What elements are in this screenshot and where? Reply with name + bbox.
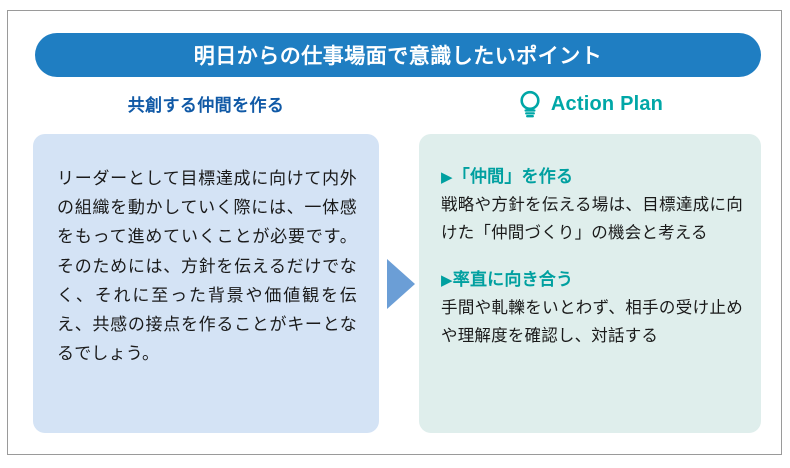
triangle-bullet-icon: ▶ bbox=[441, 169, 453, 186]
right-arrow-icon bbox=[387, 259, 415, 309]
action-item-title: ▶率直に向き合う bbox=[441, 265, 743, 290]
left-panel-body: リーダーとして目標達成に向けて内外の組織を動かしていく際には、一体感をもって進め… bbox=[57, 164, 357, 369]
action-item-title: ▶「仲間」を作る bbox=[441, 162, 743, 187]
action-item-body: 戦略や方針を伝える場は、目標達成に向けた「仲間づくり」の機会と考える bbox=[441, 192, 743, 247]
action-item: ▶「仲間」を作る 戦略や方針を伝える場は、目標達成に向けた「仲間づくり」の機会と… bbox=[441, 162, 743, 247]
left-column-heading: 共創する仲間を作る bbox=[32, 91, 380, 116]
lightbulb-icon bbox=[517, 89, 543, 119]
left-panel: リーダーとして目標達成に向けて内外の組織を動かしていく際には、一体感をもって進め… bbox=[33, 134, 379, 433]
action-item-body: 手間や軋轢をいとわず、相手の受け止めや理解度を確認し、対話する bbox=[441, 295, 743, 350]
slide-frame: 明日からの仕事場面で意識したいポイント 共創する仲間を作る Action Pla… bbox=[7, 10, 782, 455]
page-title: 明日からの仕事場面で意識したいポイント bbox=[194, 40, 603, 70]
right-panel: ▶「仲間」を作る 戦略や方針を伝える場は、目標達成に向けた「仲間づくり」の機会と… bbox=[419, 134, 761, 433]
triangle-bullet-icon: ▶ bbox=[441, 272, 453, 289]
slide-title-banner: 明日からの仕事場面で意識したいポイント bbox=[35, 33, 761, 77]
action-item-title-text: 「仲間」を作る bbox=[453, 167, 573, 186]
right-column-heading: Action Plan bbox=[419, 89, 761, 119]
action-item: ▶率直に向き合う 手間や軋轢をいとわず、相手の受け止めや理解度を確認し、対話する bbox=[441, 265, 743, 350]
action-item-title-text: 率直に向き合う bbox=[453, 270, 573, 289]
action-plan-label: Action Plan bbox=[551, 93, 663, 116]
